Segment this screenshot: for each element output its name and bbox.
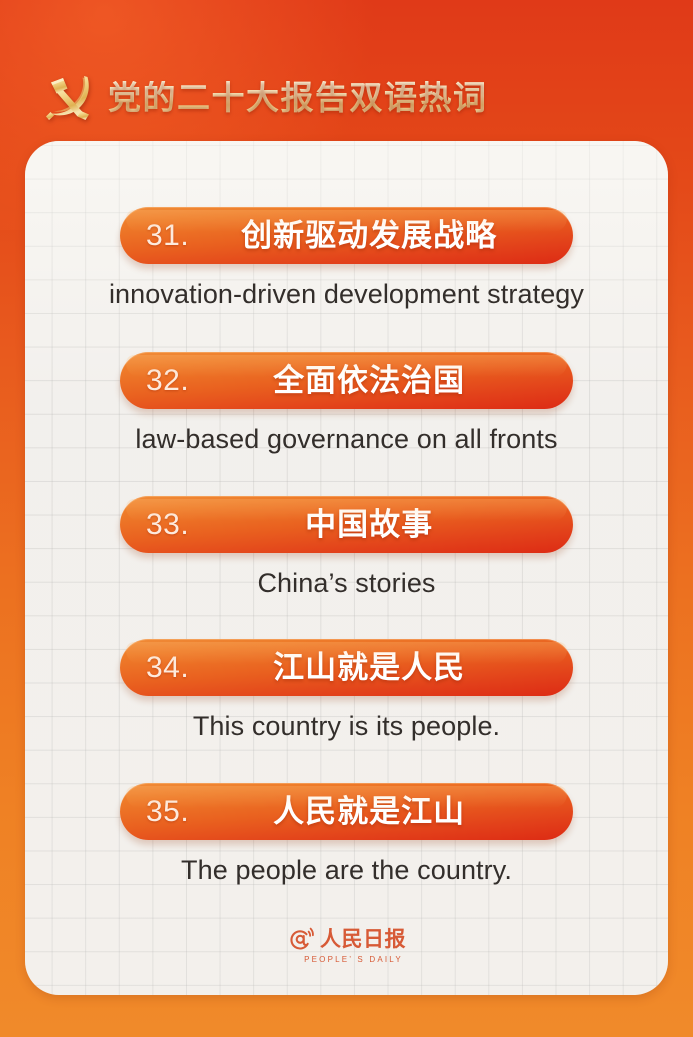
list-item: 33. 中国故事 China’s stories	[25, 496, 668, 599]
at-sign-broadcast-icon	[287, 925, 317, 953]
hotword-english: This country is its people.	[25, 711, 668, 742]
hotword-number: 32.	[146, 366, 189, 396]
hotword-number: 35.	[146, 797, 189, 827]
page-title: 党的二十大报告双语热词	[108, 81, 488, 114]
hotword-pill[interactable]: 31. 创新驱动发展战略	[120, 207, 573, 264]
hotword-english: law-based governance on all fronts	[25, 424, 668, 455]
hotword-number: 34.	[146, 653, 189, 683]
header: 党的二十大报告双语热词	[0, 60, 693, 135]
list-item: 34. 江山就是人民 This country is its people.	[25, 639, 668, 742]
hotword-chinese: 江山就是人民	[189, 652, 555, 683]
hotword-chinese: 全面依法治国	[189, 365, 555, 396]
hotword-chinese: 人民就是江山	[189, 796, 555, 827]
logo-chinese-text: 人民日报	[320, 929, 406, 950]
hotword-number: 31.	[146, 221, 189, 251]
list-item: 31. 创新驱动发展战略 innovation-driven developme…	[25, 207, 668, 310]
list-item: 32. 全面依法治国 law-based governance on all f…	[25, 352, 668, 455]
hotword-english: innovation-driven development strategy	[25, 279, 668, 310]
hotword-pill[interactable]: 32. 全面依法治国	[120, 352, 573, 409]
content-card: 31. 创新驱动发展战略 innovation-driven developme…	[25, 141, 668, 995]
peoples-daily-logo: 人民日报 PEOPLE’ S DAILY	[25, 925, 668, 964]
hotword-english: China’s stories	[25, 568, 668, 599]
hotword-english: The people are the country.	[25, 855, 668, 886]
hotword-pill[interactable]: 34. 江山就是人民	[120, 639, 573, 696]
logo-english-text: PEOPLE’ S DAILY	[304, 956, 403, 964]
hotword-pill[interactable]: 33. 中国故事	[120, 496, 573, 553]
hotword-chinese: 创新驱动发展战略	[189, 220, 555, 251]
logo-row: 人民日报	[287, 925, 406, 953]
ccp-hammer-sickle-emblem-icon	[38, 68, 100, 128]
poster-root: 党的二十大报告双语热词 31. 创新驱动发展战略 innovation-driv…	[0, 0, 693, 1037]
hotword-chinese: 中国故事	[189, 509, 555, 540]
list-item: 35. 人民就是江山 The people are the country.	[25, 783, 668, 886]
hotword-number: 33.	[146, 510, 189, 540]
hotword-pill[interactable]: 35. 人民就是江山	[120, 783, 573, 840]
